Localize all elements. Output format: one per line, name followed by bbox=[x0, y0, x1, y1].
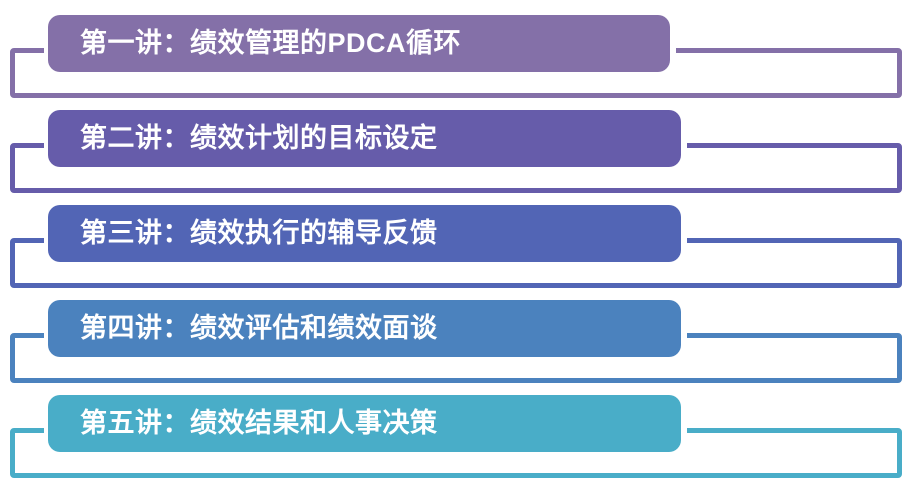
lecture-pill-5[interactable]: 第五讲：绩效结果和人事决策 bbox=[48, 395, 681, 452]
lecture-pill-3[interactable]: 第三讲：绩效执行的辅导反馈 bbox=[48, 205, 681, 262]
lecture-pill-1[interactable]: 第一讲：绩效管理的PDCA循环 bbox=[48, 15, 670, 72]
lecture-label-1: 第一讲：绩效管理的PDCA循环 bbox=[80, 30, 461, 57]
lecture-outline-diagram: 第一讲：绩效管理的PDCA循环第二讲：绩效计划的目标设定第三讲：绩效执行的辅导反… bbox=[0, 0, 913, 487]
lecture-pill-4[interactable]: 第四讲：绩效评估和绩效面谈 bbox=[48, 300, 681, 357]
lecture-row-3[interactable]: 第三讲：绩效执行的辅导反馈 bbox=[0, 190, 913, 285]
lecture-row-1[interactable]: 第一讲：绩效管理的PDCA循环 bbox=[0, 0, 913, 95]
lecture-row-4[interactable]: 第四讲：绩效评估和绩效面谈 bbox=[0, 285, 913, 380]
lecture-label-3: 第三讲：绩效执行的辅导反馈 bbox=[80, 220, 438, 247]
lecture-label-5: 第五讲：绩效结果和人事决策 bbox=[80, 410, 438, 437]
lecture-row-5[interactable]: 第五讲：绩效结果和人事决策 bbox=[0, 380, 913, 475]
lecture-label-2: 第二讲：绩效计划的目标设定 bbox=[80, 125, 438, 152]
lecture-row-2[interactable]: 第二讲：绩效计划的目标设定 bbox=[0, 95, 913, 190]
lecture-label-4: 第四讲：绩效评估和绩效面谈 bbox=[80, 315, 438, 342]
lecture-pill-2[interactable]: 第二讲：绩效计划的目标设定 bbox=[48, 110, 681, 167]
